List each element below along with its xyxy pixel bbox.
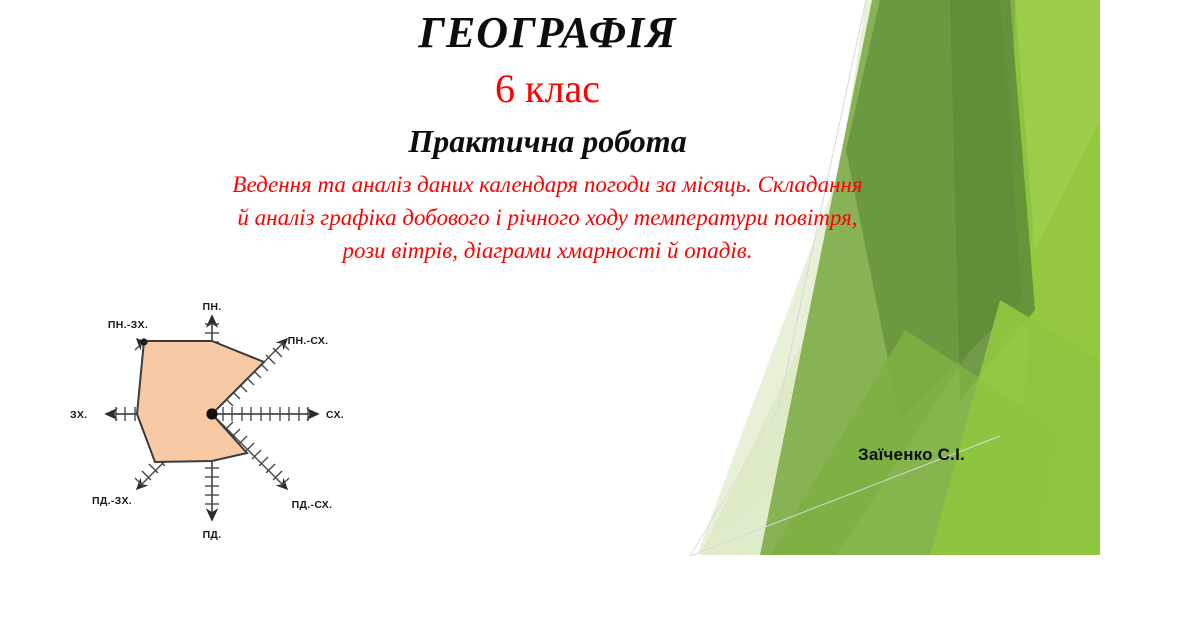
title-text-block: ГЕОГРАФІЯ 6 клас Практична робота Веденн… (80, 8, 1015, 267)
label-east: СХ. (326, 409, 344, 421)
label-north: ПН. (203, 301, 222, 313)
description-line: й аналіз графіка добового і річного ходу… (80, 202, 1015, 235)
label-northwest: ПН.-ЗХ. (108, 319, 148, 331)
label-south: ПД. (203, 529, 222, 541)
wind-rose-polygon (137, 341, 264, 462)
label-southeast: ПД.-СХ. (292, 499, 333, 511)
wind-rose-chart: ПН. ПД. ЗХ. СХ. ПН.-ЗХ. ПН.-СХ. ПД.-ЗХ. … (40, 296, 380, 558)
grade-label: 6 клас (80, 63, 1015, 115)
author-name: Заїченко С.І. (858, 445, 965, 465)
description-line: Ведення та аналіз даних календаря погоди… (80, 169, 1015, 202)
label-northeast: ПН.-СХ. (288, 335, 329, 347)
slide-canvas: ГЕОГРАФІЯ 6 клас Практична робота Веденн… (0, 0, 1200, 630)
rose-centre-dot (206, 408, 217, 419)
art-mask-bottom (600, 556, 1200, 630)
label-southwest: ПД.-ЗХ. (92, 495, 132, 507)
page-title: ГЕОГРАФІЯ (80, 8, 1015, 57)
art-mask-right (1100, 0, 1200, 630)
rose-vertex-northwest (140, 338, 147, 345)
description-line: рози вітрів, діаграми хмарності й опадів… (80, 235, 1015, 268)
label-west: ЗХ. (70, 409, 87, 421)
work-type-label: Практична робота (80, 121, 1015, 161)
description-text: Ведення та аналіз даних календаря погоди… (80, 169, 1015, 267)
